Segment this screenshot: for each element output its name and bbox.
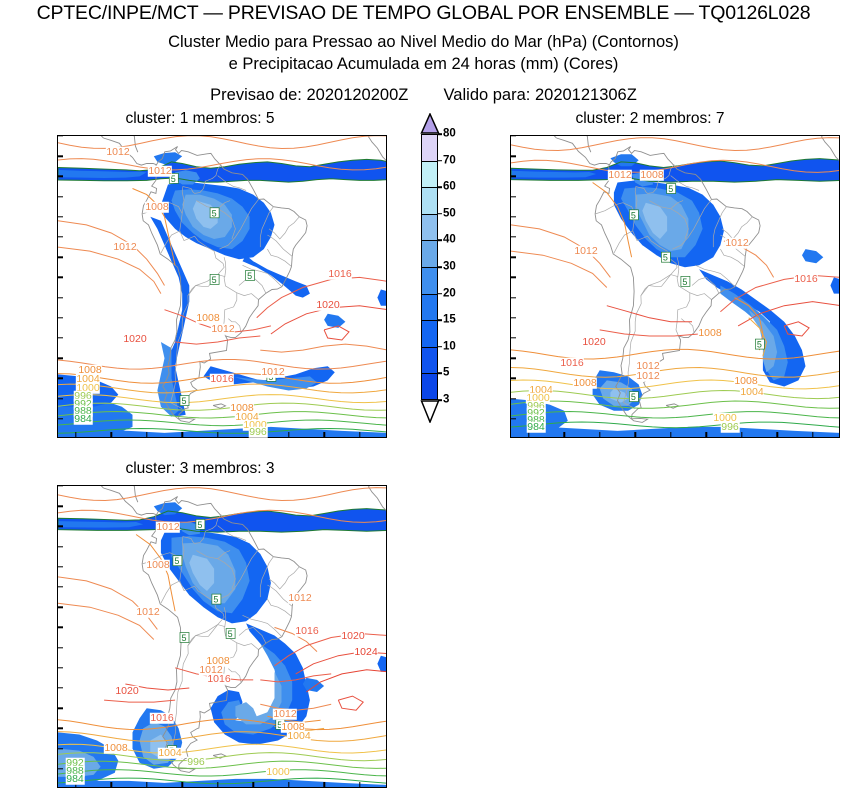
precip-marker-label: 5	[663, 253, 668, 263]
precipitation-region	[802, 249, 823, 263]
colorbar-tick-mark	[438, 319, 442, 321]
precipitation-region	[377, 656, 386, 672]
isobar-value-label: 996	[249, 427, 268, 438]
precip-marker-label: 5	[181, 396, 186, 406]
isobar-value-label: 1008	[573, 378, 597, 389]
isobar-value-label: 1008	[196, 313, 220, 324]
x-axis-tick-mark	[146, 432, 147, 437]
y-axis-tick-mark	[58, 485, 63, 486]
isobar-value-label: 1012	[273, 709, 297, 720]
y-axis-tick-mark	[511, 155, 516, 156]
colorbar-segment	[421, 320, 438, 347]
y-axis-tick-mark	[58, 546, 63, 547]
colorbar-top-arrow-icon	[420, 113, 439, 134]
precip-marker-label: 5	[181, 633, 186, 643]
country-border	[269, 217, 299, 239]
isobar-1012	[58, 577, 157, 630]
forecast-valid-time: 2020121306Z	[535, 86, 637, 104]
x-axis-tick-mark	[181, 432, 182, 437]
isobar-value-label: 1024	[354, 647, 378, 658]
y-axis-tick-mark	[511, 337, 516, 338]
country-border	[269, 567, 299, 589]
country-border	[722, 217, 752, 239]
precip-marker-label: 5	[213, 595, 218, 605]
colorbar-tick-mark	[438, 186, 442, 188]
y-axis-tick-mark	[58, 196, 63, 197]
country-border	[237, 643, 259, 650]
forecast-init-label: Previsao de:	[210, 86, 302, 104]
y-axis-tick-mark	[58, 155, 63, 156]
coastline	[58, 486, 103, 488]
x-axis-tick-mark	[111, 432, 112, 437]
isobar-value-label: 1020	[582, 337, 606, 348]
coastline	[369, 486, 387, 487]
colorbar-tick-label: 40	[443, 235, 456, 247]
x-axis-tick-mark	[812, 432, 813, 437]
isobar-value-label: 1012	[211, 324, 235, 335]
x-axis-tick-mark	[670, 432, 671, 437]
figure-subtitle-line1: Cluster Medio para Pressao ao Nivel Medi…	[0, 33, 847, 52]
precip-marker-label: 5	[668, 184, 673, 194]
precip-marker-label: 5	[174, 556, 179, 566]
isobar-1016	[175, 336, 260, 344]
cluster-panel-1-map[interactable]: 555555 15N10N5NEQ5S10S15S20S25S30S35S40S…	[57, 135, 387, 438]
isobar-value-label: 1020	[316, 300, 340, 311]
y-axis-tick-mark	[58, 378, 63, 379]
isobar-1004	[58, 732, 386, 742]
figure-subtitle-line2: e Precipitacao Acumulada em 24 horas (mm…	[0, 55, 847, 74]
colorbar-segment	[421, 240, 438, 267]
precipitation-region	[830, 277, 839, 293]
isobar-value-label: 1012	[106, 147, 130, 158]
isobar-value-label: 1016	[207, 674, 231, 685]
coastline	[58, 136, 103, 138]
isobar-value-label: 1008	[698, 328, 722, 339]
y-axis-tick-mark	[58, 526, 63, 527]
precip-marker-label: 5	[631, 210, 636, 220]
precipitation-colorbar[interactable]: 80706050403020151053	[421, 132, 438, 442]
isobar-value-label: 1012	[148, 166, 172, 177]
isobar-value-label: 1012	[136, 607, 160, 618]
x-axis-tick-mark	[75, 432, 76, 437]
isobar-value-label: 1000	[266, 767, 290, 778]
isobar-value-label: 1020	[115, 686, 139, 697]
isobar-value-label: 1016	[794, 274, 818, 285]
precip-marker-label: 5	[212, 208, 217, 218]
colorbar-tick-mark	[438, 346, 442, 348]
country-border	[237, 293, 259, 300]
colorbar-tick-label: 60	[443, 181, 456, 193]
cluster-panel-1-title: cluster: 1 membros: 5	[0, 110, 400, 128]
x-axis-tick-mark	[323, 782, 324, 787]
y-axis-tick-mark	[511, 277, 516, 278]
country-border	[267, 249, 291, 266]
y-axis-tick-mark	[58, 768, 63, 769]
y-axis-tick-mark	[58, 606, 63, 607]
isobar-value-label: 1008	[145, 202, 169, 213]
x-axis-tick-mark	[288, 782, 289, 787]
colorbar-tick-mark	[438, 160, 442, 162]
colorbar-segment	[421, 294, 438, 321]
isobar-value-label: 996	[721, 422, 740, 433]
colorbar-segment	[421, 134, 438, 161]
colorbar-tick-label: 50	[443, 208, 456, 220]
isobar-value-label: 1016	[328, 269, 352, 280]
cluster-panel-3-title: cluster: 3 membros: 3	[0, 460, 400, 478]
isobar-value-label: 1016	[560, 358, 584, 369]
isobar-value-label: 996	[187, 757, 206, 768]
isobar-value-label: 1008	[104, 743, 128, 754]
y-axis-tick-mark	[58, 687, 63, 688]
x-axis-tick-mark	[217, 782, 218, 787]
isobar-value-label: 1012	[608, 170, 632, 181]
colorbar-segment	[421, 347, 438, 374]
isobar-value-label: 1012	[261, 367, 285, 378]
y-axis-tick-mark	[58, 236, 63, 237]
y-axis-tick-mark	[58, 357, 63, 358]
y-axis-tick-mark	[58, 317, 63, 318]
isobar-1016	[104, 700, 175, 702]
y-axis-tick-mark	[58, 627, 63, 628]
isobar-value-label: 1004	[158, 748, 182, 759]
y-axis-tick-mark	[511, 297, 516, 298]
y-axis-tick-mark	[58, 748, 63, 749]
y-axis-tick-mark	[511, 398, 516, 399]
precip-marker-label: 5	[212, 275, 217, 285]
coastline	[511, 136, 556, 138]
y-axis-tick-mark	[511, 236, 516, 237]
isobar-1020	[607, 306, 692, 322]
x-axis-tick-mark	[741, 432, 742, 437]
colorbar-tick-label: 80	[443, 128, 456, 140]
isobar-value-label: 1004	[740, 387, 764, 398]
forecast-init-time: 2020120200Z	[306, 86, 408, 104]
y-axis-tick-mark	[58, 398, 63, 399]
y-axis-tick-mark	[58, 256, 63, 257]
isobar-1012	[58, 360, 386, 370]
y-axis-tick-mark	[58, 297, 63, 298]
isobar-value-label: 1012	[725, 238, 749, 249]
precip-marker-label: 5	[247, 271, 252, 281]
y-axis-tick-mark	[58, 176, 63, 177]
cluster-panel-2-map[interactable]: 555555 15N10N5NEQ5S10S15S20S25S30S35S40S…	[510, 135, 840, 438]
colorbar-tick-label: 3	[443, 394, 449, 406]
y-axis-tick-mark	[58, 418, 63, 419]
colorbar-segment	[421, 161, 438, 188]
x-axis-tick-mark	[181, 782, 182, 787]
isobar-value-label: 1004	[287, 731, 311, 742]
y-axis-tick-mark	[58, 337, 63, 338]
colorbar-tick-mark	[438, 240, 442, 242]
precip-marker-label: 5	[197, 520, 202, 530]
colorbar-segment	[421, 187, 438, 214]
colorbar-tick-mark	[438, 133, 442, 135]
isobar-value-label: 1020	[341, 631, 365, 642]
isobar-1012	[58, 247, 161, 294]
x-axis-tick-mark	[359, 432, 360, 437]
y-axis-tick-mark	[58, 728, 63, 729]
figure-date-line: Previsao de: 2020120200Z Valido para: 20…	[0, 86, 847, 105]
colorbar-tick-mark	[438, 266, 442, 268]
coastline	[103, 488, 156, 515]
y-axis-tick-mark	[58, 566, 63, 567]
colorbar-tick-label: 20	[443, 288, 456, 300]
coastline	[118, 486, 138, 502]
isobar-value-label: 1008	[734, 376, 758, 387]
y-axis-tick-mark	[58, 277, 63, 278]
isobar-value-label: 1008	[640, 170, 664, 181]
precip-marker-label: 5	[682, 277, 687, 287]
coastline	[213, 404, 225, 408]
isobar-value-label: 1012	[113, 242, 137, 253]
isobar-value-label: 1012	[288, 593, 312, 604]
x-axis-tick-mark	[564, 432, 565, 437]
isobar-value-label: 984	[527, 422, 546, 433]
country-border	[681, 319, 694, 333]
colorbar-tick-label: 10	[443, 341, 456, 353]
colorbar-segment	[421, 214, 438, 241]
colorbar-tick-label: 70	[443, 155, 456, 167]
cluster-panel-2: cluster: 2 membros: 7 555555 15N10N5NEQ5…	[453, 110, 847, 455]
x-axis-tick-mark	[528, 432, 529, 437]
y-axis-tick-mark	[511, 357, 516, 358]
isobar-value-label: 1008	[146, 560, 170, 571]
x-axis-tick-mark	[359, 782, 360, 787]
colorbar-segment	[421, 267, 438, 294]
forecast-figure: CPTEC/INPE/MCT — PREVISAO DE TEMPO GLOBA…	[0, 0, 847, 803]
isobar-value-label: 1016	[295, 626, 319, 637]
y-axis-tick-mark	[511, 135, 516, 136]
x-axis-tick-mark	[217, 432, 218, 437]
isobar-996	[511, 391, 839, 399]
x-axis-tick-mark	[252, 782, 253, 787]
country-border	[267, 235, 292, 256]
isobar-1012	[58, 221, 165, 286]
coastline	[556, 138, 609, 165]
isobar-1012	[260, 344, 386, 352]
precipitation-region	[324, 314, 345, 328]
precipitation-region	[511, 425, 839, 437]
x-axis-tick-mark	[111, 782, 112, 787]
isobar-value-label: 984	[66, 774, 85, 785]
coastline	[822, 136, 840, 137]
y-axis-tick-mark	[511, 418, 516, 419]
colorbar-bottom-arrow-icon	[420, 399, 439, 423]
y-axis-tick-mark	[511, 317, 516, 318]
y-axis-tick-mark	[58, 505, 63, 506]
isobar-1016	[257, 277, 386, 317]
x-axis-tick-mark	[146, 782, 147, 787]
colorbar-tick-label: 5	[443, 368, 449, 380]
x-axis-tick-mark	[599, 432, 600, 437]
colorbar-tick-mark	[438, 293, 442, 295]
colorbar-tick-label: 30	[443, 261, 456, 273]
isobar-1020	[338, 696, 363, 710]
colorbar-tick-label: 15	[443, 314, 456, 326]
x-axis-tick-mark	[634, 432, 635, 437]
colorbar-tick-mark	[438, 373, 442, 375]
isobar-value-label: 1012	[636, 371, 660, 382]
figure-main-title: CPTEC/INPE/MCT — PREVISAO DE TEMPO GLOBA…	[0, 2, 847, 25]
country-border	[224, 257, 226, 276]
y-axis-tick-mark	[58, 216, 63, 217]
colorbar-tick-mark	[438, 213, 442, 215]
country-border	[690, 293, 712, 300]
y-axis-tick-mark	[511, 256, 516, 257]
isobar-1016	[600, 330, 699, 336]
country-border	[720, 249, 744, 266]
y-axis-tick-mark	[58, 586, 63, 587]
precip-marker-label: 5	[631, 392, 636, 402]
y-axis-tick-mark	[58, 707, 63, 708]
precipitation-fill-layer	[58, 152, 386, 437]
colorbar-segment	[421, 373, 438, 400]
precipitation-region	[175, 170, 200, 184]
y-axis-tick-mark	[511, 196, 516, 197]
precipitation-region	[377, 290, 386, 306]
y-axis-tick-mark	[58, 135, 63, 136]
isobar-value-label: 984	[74, 414, 93, 425]
isobar-value-label: 1020	[123, 334, 147, 345]
y-axis-tick-mark	[511, 176, 516, 177]
precipitation-region	[58, 779, 386, 787]
cluster-panel-2-title: cluster: 2 membros: 7	[453, 110, 847, 128]
forecast-valid-label: Valido para:	[444, 86, 531, 104]
colorbar-tick-mark	[438, 399, 442, 401]
y-axis-tick-mark	[511, 378, 516, 379]
cluster-panel-1: cluster: 1 membros: 5 555555 15N10N5NEQ5…	[0, 110, 400, 455]
x-axis-tick-mark	[288, 432, 289, 437]
isobar-1020	[324, 326, 349, 340]
isobar-value-label: 1016	[150, 713, 174, 724]
isobar-value-label: 1016	[210, 374, 234, 385]
x-axis-tick-mark	[776, 432, 777, 437]
isobar-value-label: 1012	[574, 246, 598, 257]
precip-marker-label: 5	[228, 629, 233, 639]
y-axis-tick-mark	[58, 667, 63, 668]
x-axis-tick-mark	[705, 432, 706, 437]
coastline	[571, 136, 591, 152]
y-axis-tick-mark	[58, 647, 63, 648]
x-axis-tick-mark	[323, 432, 324, 437]
isobar-value-label: 1012	[156, 522, 180, 533]
y-axis-tick-mark	[511, 216, 516, 217]
precip-marker-label: 5	[757, 340, 762, 350]
